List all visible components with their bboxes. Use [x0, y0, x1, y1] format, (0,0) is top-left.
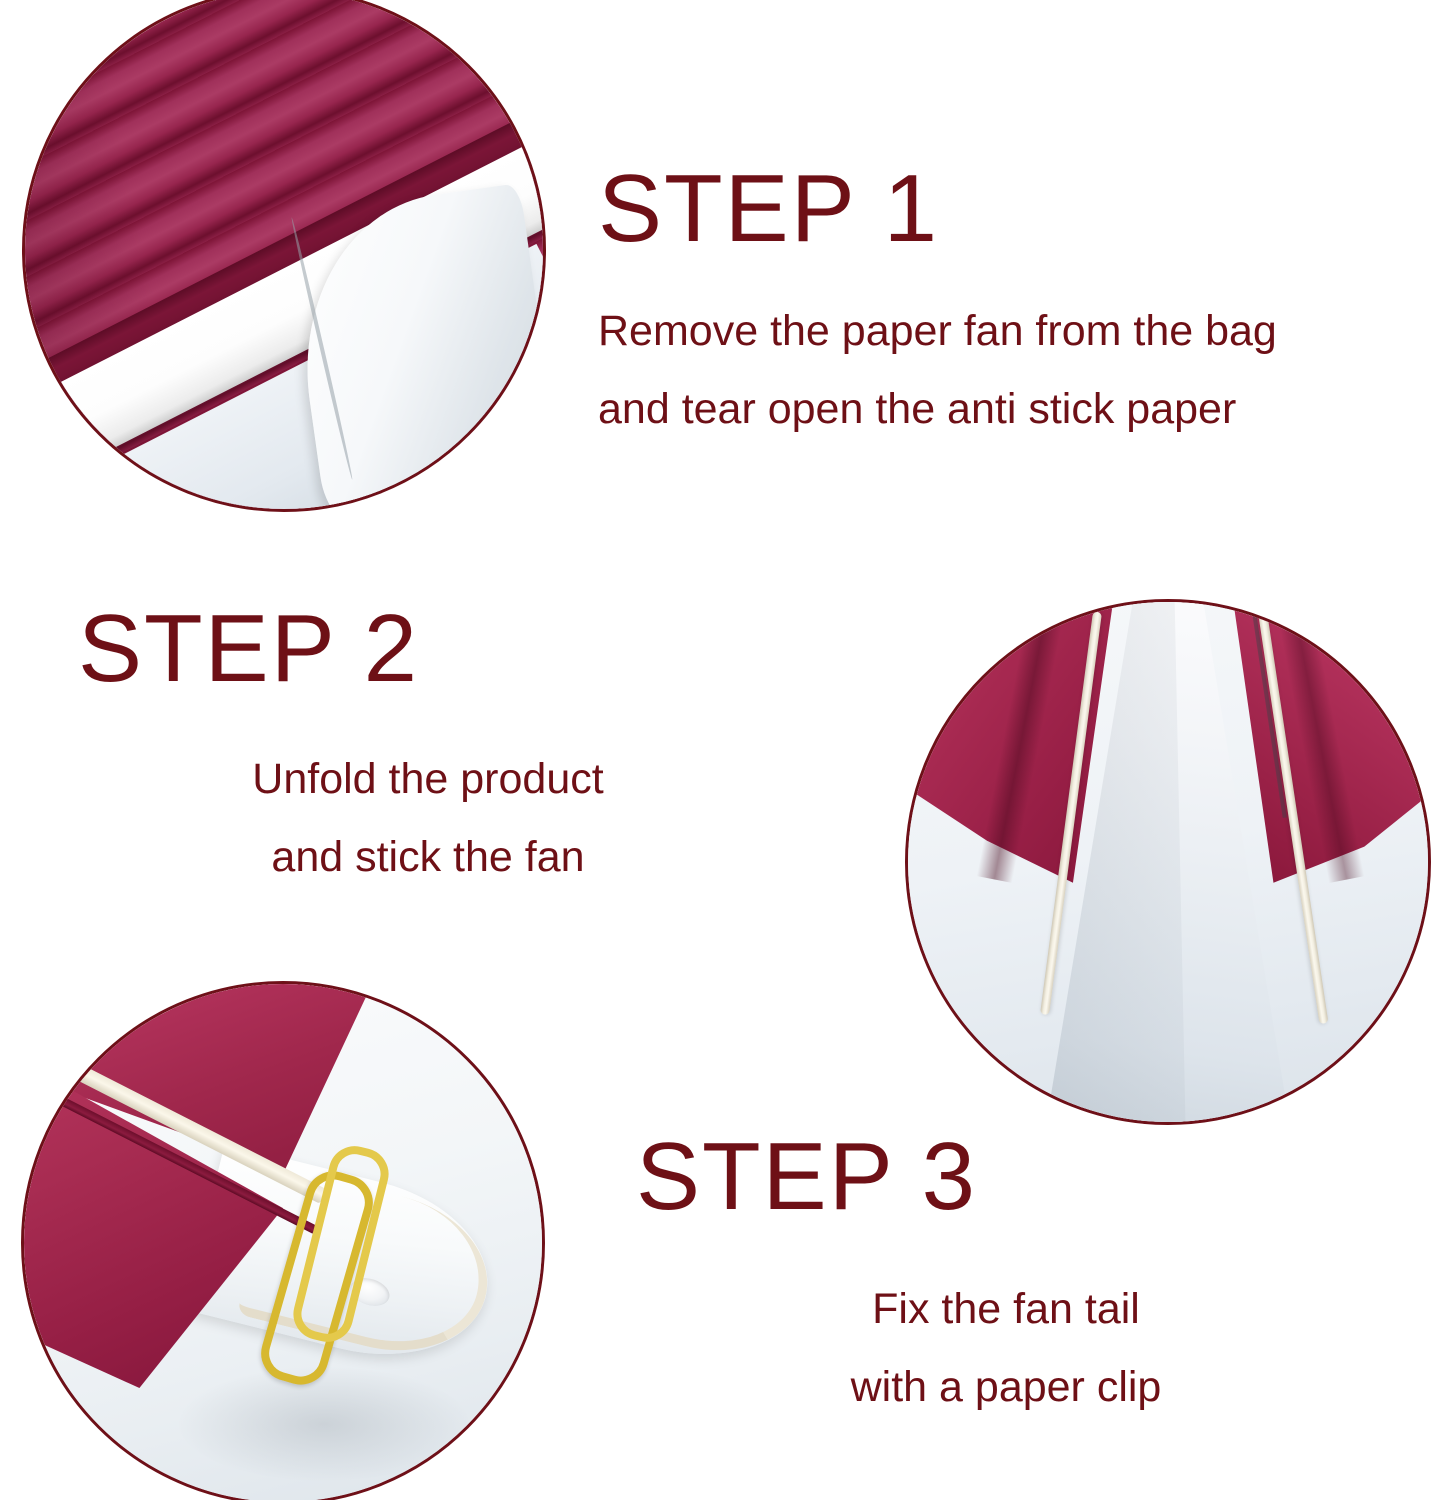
- step-1-title: STEP 1: [598, 160, 1277, 258]
- drop-shadow: [179, 1367, 469, 1481]
- photo-step2-unfolded-fan: [905, 599, 1431, 1125]
- step-1-description: Remove the paper fan from the bag and te…: [598, 292, 1277, 449]
- step-3-description: Fix the fan tail with a paper clip: [636, 1270, 1376, 1427]
- step-2-description-line-1: Unfold the product: [78, 740, 778, 818]
- photo-step1-content: [25, 0, 543, 509]
- step-2-description-line-2: and stick the fan: [78, 818, 778, 896]
- photo-step2-content: [908, 602, 1428, 1122]
- step-2-text-block: STEP 2 Unfold the product and stick the …: [78, 600, 778, 896]
- photo-step1-peel-anti-stick-paper: [22, 0, 546, 512]
- photo-step3-content: [24, 984, 542, 1500]
- step-1-description-line-2: and tear open the anti stick paper: [598, 370, 1277, 448]
- step-3-description-line-2: with a paper clip: [636, 1348, 1376, 1426]
- instruction-poster: STEP 1 Remove the paper fan from the bag…: [0, 0, 1444, 1500]
- step-1-text-block: STEP 1 Remove the paper fan from the bag…: [598, 160, 1277, 448]
- step-3-description-line-1: Fix the fan tail: [636, 1270, 1376, 1348]
- photo-step3-paper-clip: [21, 981, 545, 1500]
- step-3-text-block: STEP 3 Fix the fan tail with a paper cli…: [636, 1128, 1376, 1426]
- step-2-description: Unfold the product and stick the fan: [78, 740, 778, 897]
- step-2-title: STEP 2: [78, 600, 778, 698]
- step-3-title: STEP 3: [636, 1128, 1376, 1226]
- step-1-description-line-1: Remove the paper fan from the bag: [598, 292, 1277, 370]
